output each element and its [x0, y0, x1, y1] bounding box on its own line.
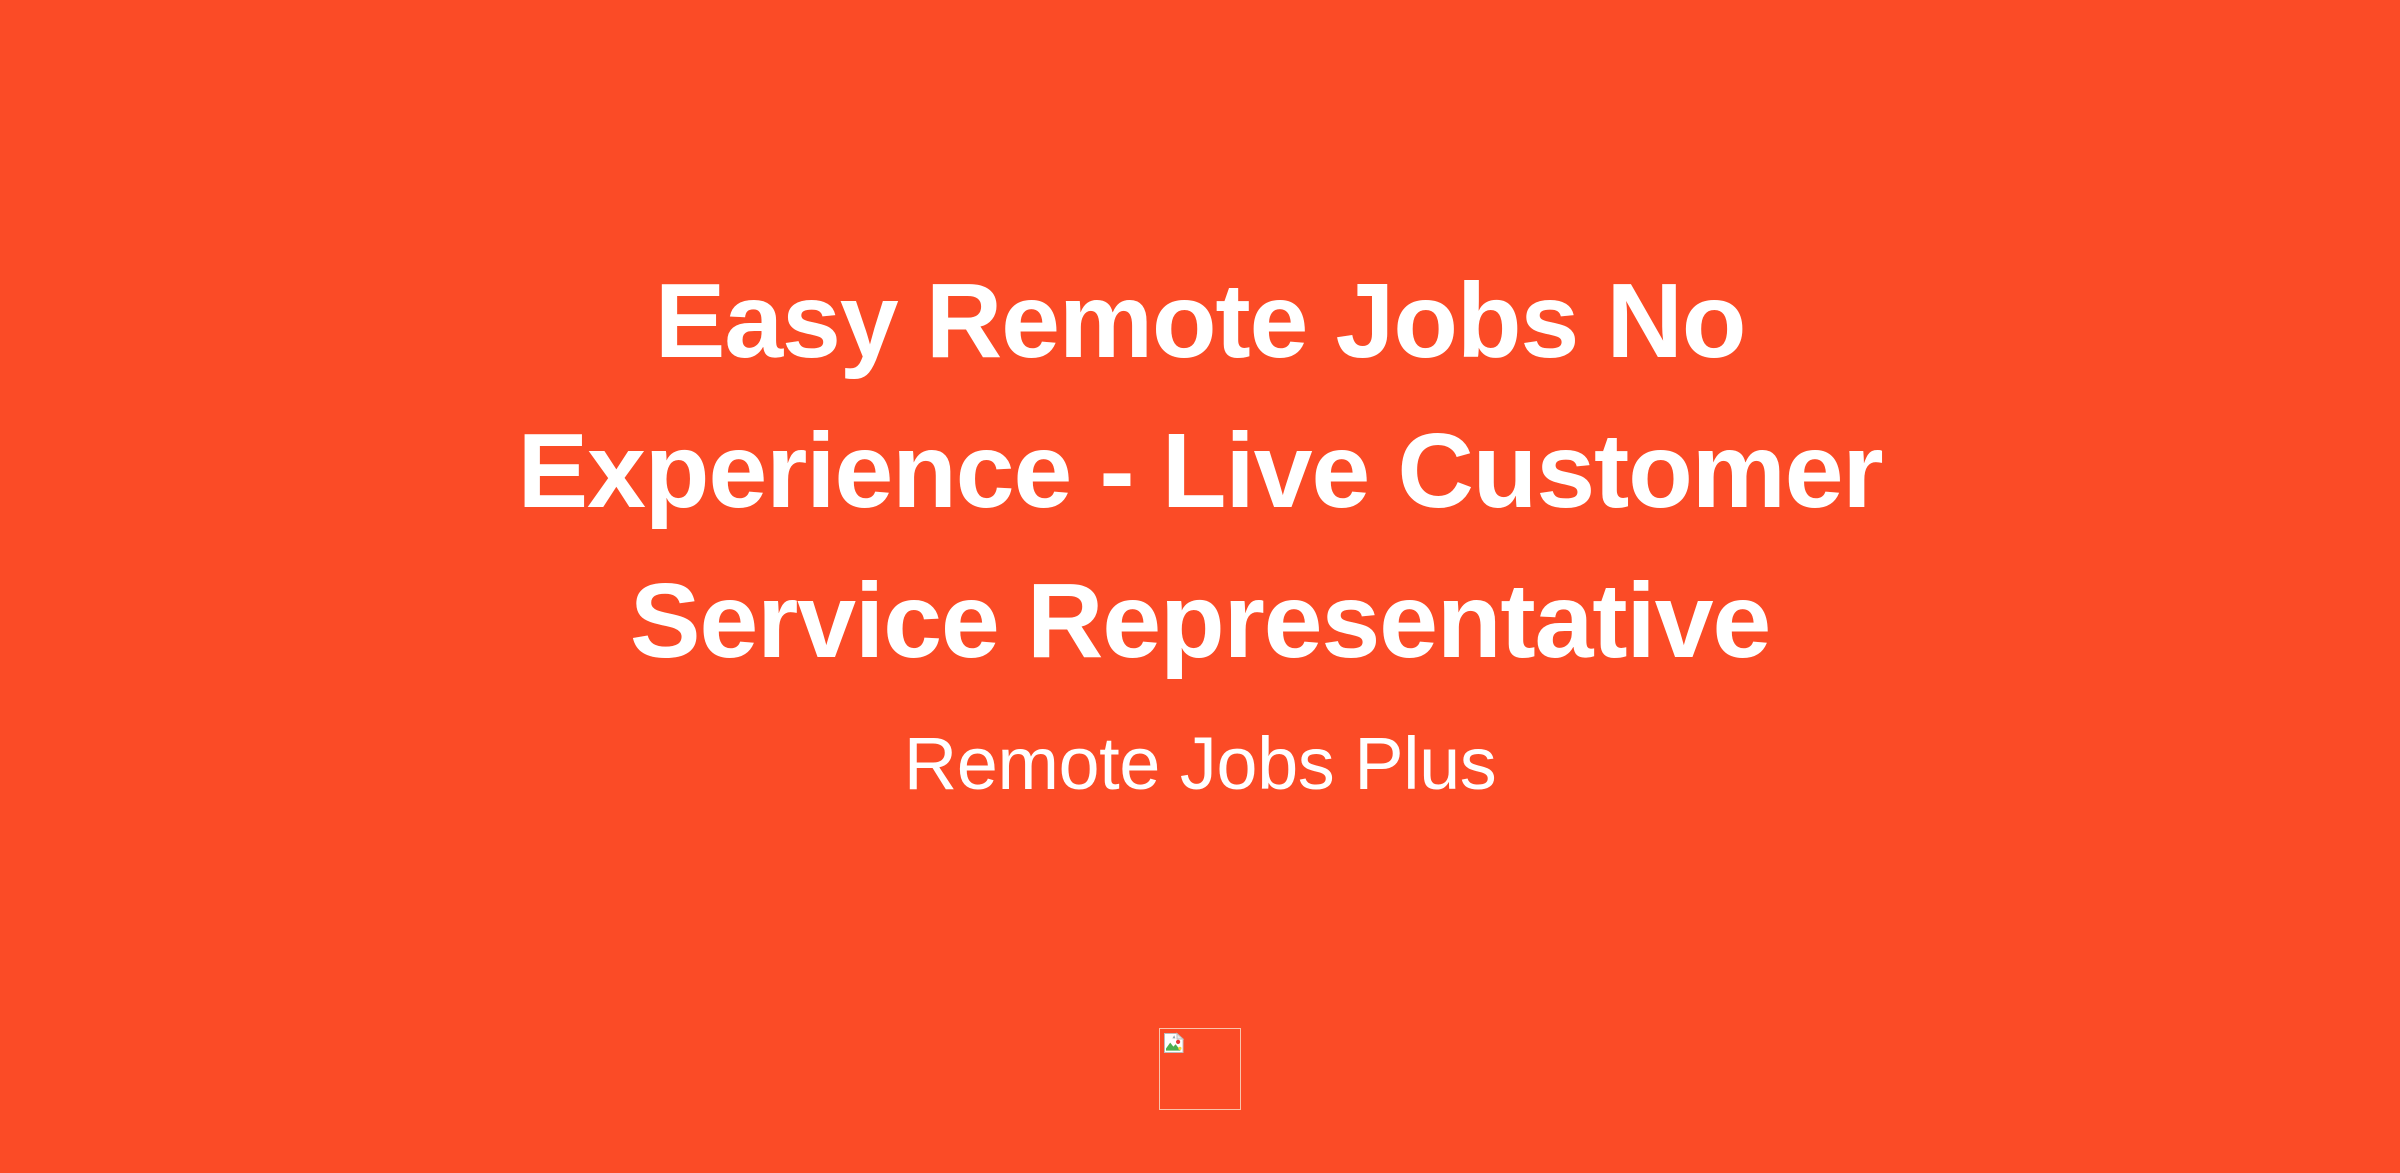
media-slot	[0, 1028, 2400, 1110]
hero-section: Easy Remote Jobs No Experience - Live Cu…	[0, 0, 2400, 810]
page-subtitle: Remote Jobs Plus	[0, 696, 2400, 810]
broken-image-icon	[1163, 1032, 1185, 1054]
page-title: Easy Remote Jobs No Experience - Live Cu…	[0, 246, 2400, 696]
page-title-line-2: Experience - Live Customer	[0, 396, 2400, 546]
broken-image-placeholder[interactable]	[1159, 1028, 1241, 1110]
page-title-line-1: Easy Remote Jobs No	[0, 246, 2400, 396]
page-title-line-3: Service Representative	[0, 546, 2400, 696]
page-root: Easy Remote Jobs No Experience - Live Cu…	[0, 0, 2400, 1173]
